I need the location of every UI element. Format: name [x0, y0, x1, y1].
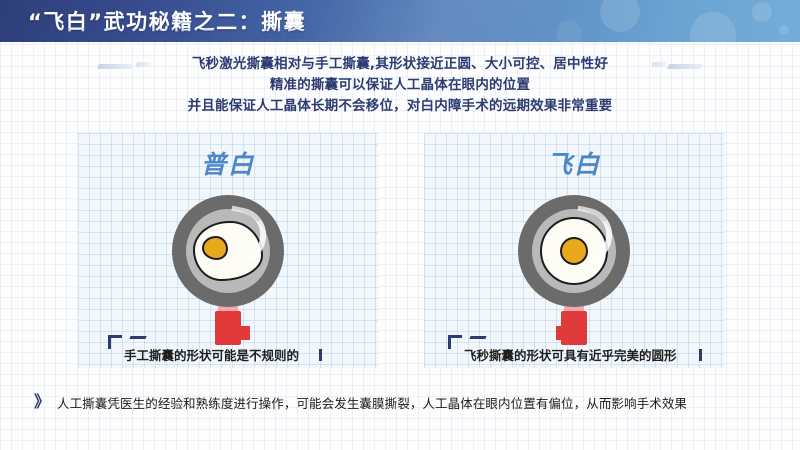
pan-outer-ring: [172, 195, 284, 307]
corner-bracket-icon: [448, 335, 462, 349]
decorative-circle-icon: [600, 0, 640, 32]
egg-yolk-irregular: [202, 236, 228, 260]
red-marker-block: [222, 326, 250, 340]
egg-yolk-round: [560, 237, 588, 265]
caption-dash-icon: [129, 336, 146, 339]
frying-pan-irregular-icon: [169, 195, 287, 345]
comparison-panels: 普白 飞白: [78, 133, 724, 368]
caption-end-tick-icon: [319, 349, 322, 361]
decorative-circle-icon: [556, 20, 582, 42]
panel-label-femto: 飞白: [424, 145, 724, 181]
panel-label-manual: 普白: [78, 145, 378, 181]
pan-inner-surface: [186, 209, 270, 293]
decorative-circle-icon: [779, 25, 789, 35]
caption-text-femto: 飞秒撕囊的形状可具有近乎完美的圆形: [464, 345, 677, 364]
caption-dash-icon: [469, 336, 486, 339]
subtitle-block: 飞秒激光撕囊相对与手工撕囊,其形状接近正圆、大小可控、居中性好 精准的撕囊可以保…: [0, 54, 800, 117]
slide-root: “飞白”武功秘籍之二：撕囊 “飞白”武功秘籍之二：撕囊 飞秒激光撕囊相对与手工撕…: [0, 0, 800, 450]
pan-outer-ring: [518, 195, 630, 307]
egg-white-irregular: [193, 221, 263, 281]
corner-bracket-icon: [108, 335, 122, 349]
decorative-circle-icon: [752, 2, 772, 22]
page-title: “飞白”武功秘籍之二：撕囊: [28, 6, 306, 36]
subtitle-line: 并且能保证人工晶体长期不会移位，对白内障手术的远期效果非常重要: [0, 96, 800, 117]
double-chevron-icon: 》: [34, 395, 50, 411]
bottom-note: 》 人工撕囊凭医生的经验和熟练度进行操作，可能会发生囊膜撕裂，人工晶体在眼内位置…: [34, 393, 687, 412]
bottom-note-text: 人工撕囊凭医生的经验和熟练度进行操作，可能会发生囊膜撕裂，人工晶体在眼内位置有偏…: [57, 393, 687, 412]
egg-white-round: [540, 217, 608, 285]
caption-end-tick-icon: [699, 349, 702, 361]
subtitle-line: 飞秒激光撕囊相对与手工撕囊,其形状接近正圆、大小可控、居中性好: [0, 54, 800, 75]
pan-inner-surface: [532, 209, 616, 293]
decorative-circle-icon: [690, 12, 736, 42]
red-marker-block: [556, 326, 584, 340]
frying-pan-round-icon: [515, 195, 633, 345]
caption-text-manual: 手工撕囊的形状可能是不规则的: [124, 345, 299, 364]
subtitle-line: 精准的撕囊可以保证人工晶体在眼内的位置: [0, 75, 800, 96]
slide-header: “飞白”武功秘籍之二：撕囊: [0, 0, 800, 42]
